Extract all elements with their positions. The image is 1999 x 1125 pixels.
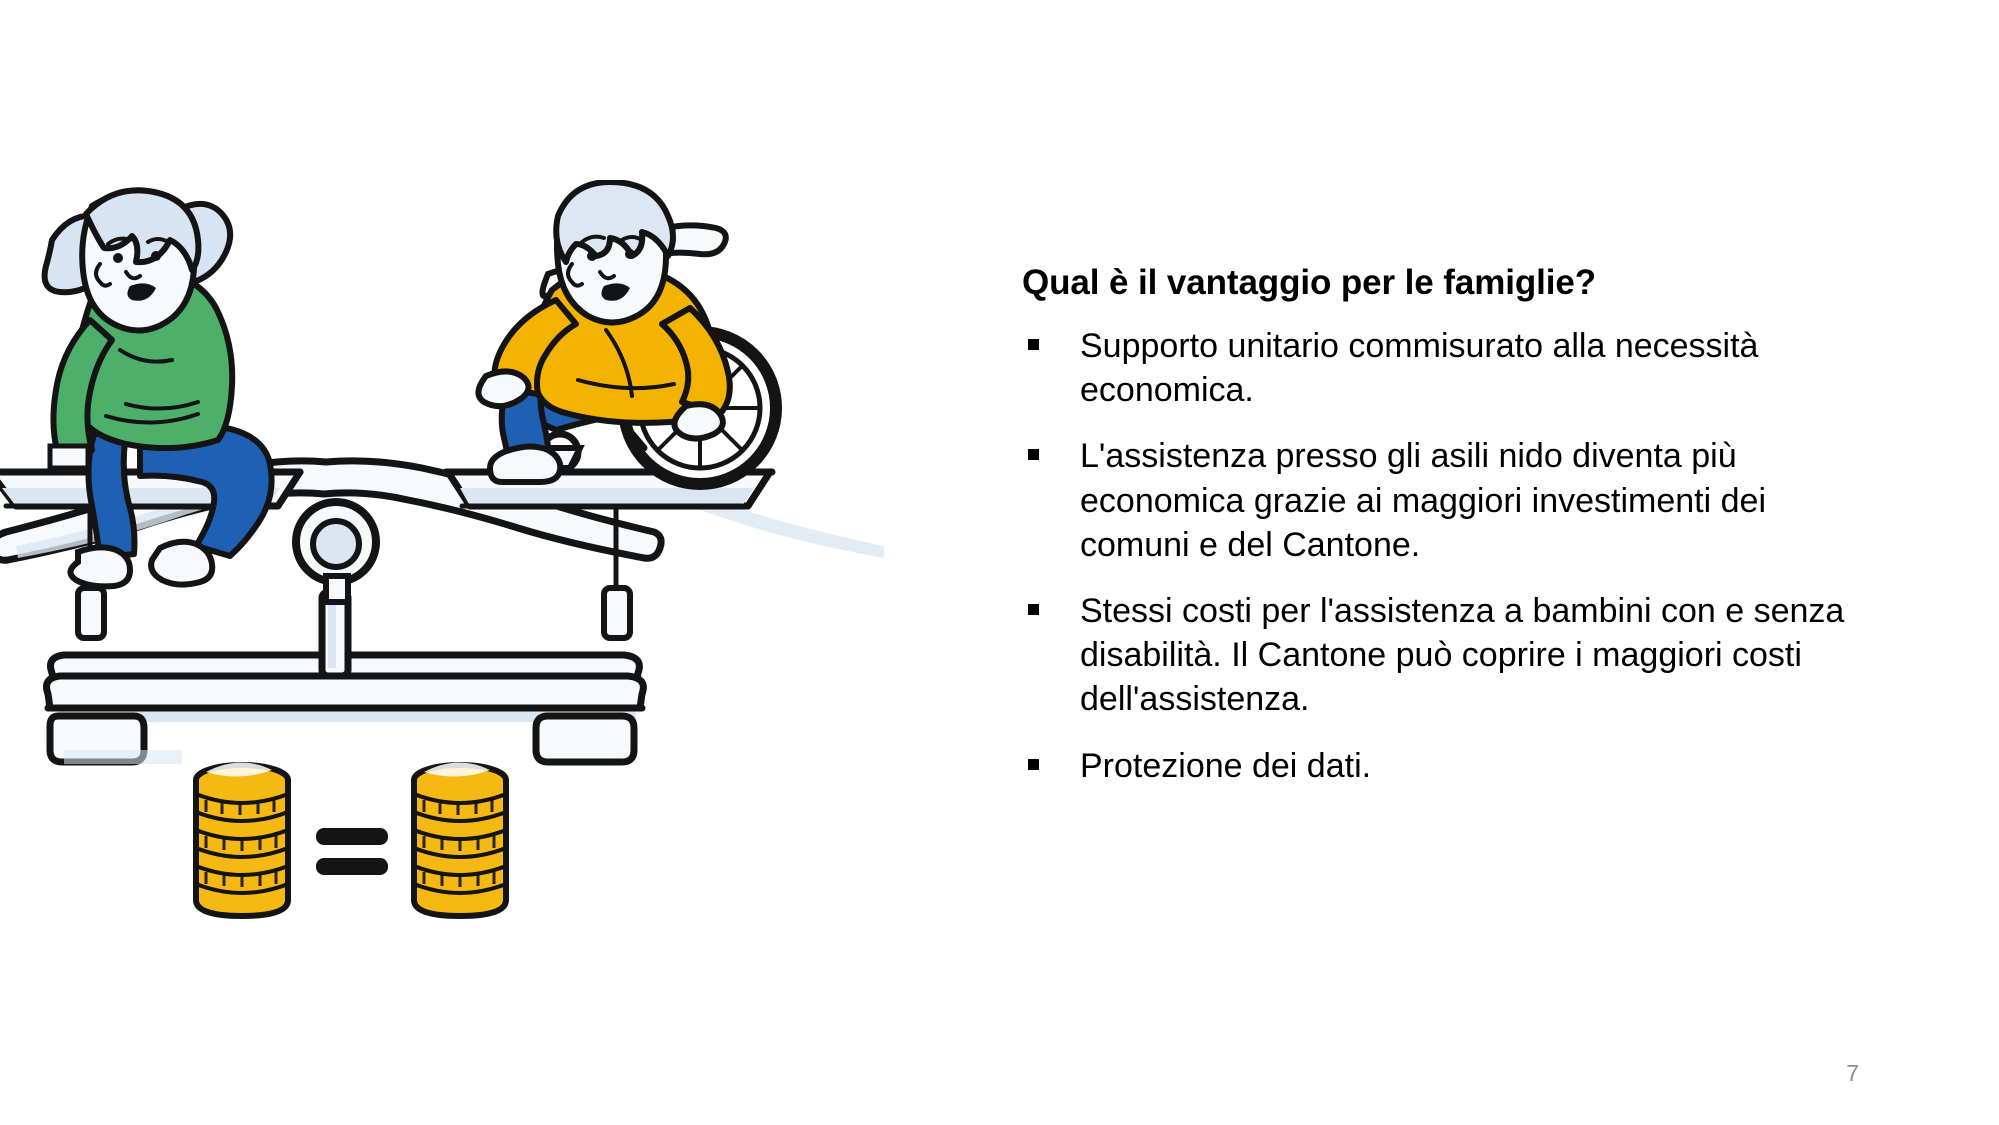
list-item: L'assistenza presso gli asili nido diven… [1022, 434, 1882, 567]
list-item-text: Supporto unitario commisurato alla neces… [1080, 324, 1882, 412]
list-item: Supporto unitario commisurato alla neces… [1022, 324, 1882, 412]
list-item: Protezione dei dati. [1022, 744, 1882, 788]
scale-pivot [296, 502, 376, 602]
list-item-text: L'assistenza presso gli asili nido diven… [1080, 434, 1882, 567]
balance-scale-illustration: .ol{fill:none;stroke:#141414;stroke-widt… [0, 180, 900, 1070]
page-number: 7 [1846, 1060, 1859, 1087]
content-text-block: Qual è il vantaggio per le famiglie? Sup… [1022, 262, 1882, 810]
bullet-list: Supporto unitario commisurato alla neces… [1022, 324, 1882, 788]
list-item-text: Stessi costi per l'assistenza a bambini … [1080, 589, 1882, 722]
square-bullet-icon [1028, 604, 1039, 615]
right-coin-stack [414, 762, 506, 916]
slide-canvas: .ol{fill:none;stroke:#141414;stroke-widt… [0, 0, 1999, 1125]
list-item: Stessi costi per l'assistenza a bambini … [1022, 589, 1882, 722]
right-scale-pan [446, 472, 772, 638]
page-title: Qual è il vantaggio per le famiglie? [1022, 262, 1882, 304]
square-bullet-icon [1028, 759, 1039, 770]
square-bullet-icon [1028, 449, 1039, 460]
list-item-text: Protezione dei dati. [1080, 744, 1882, 788]
square-bullet-icon [1028, 339, 1039, 350]
boy-in-wheelchair-on-right-pan [478, 182, 776, 484]
equals-sign-icon [316, 828, 388, 875]
left-coin-stack [196, 762, 288, 916]
